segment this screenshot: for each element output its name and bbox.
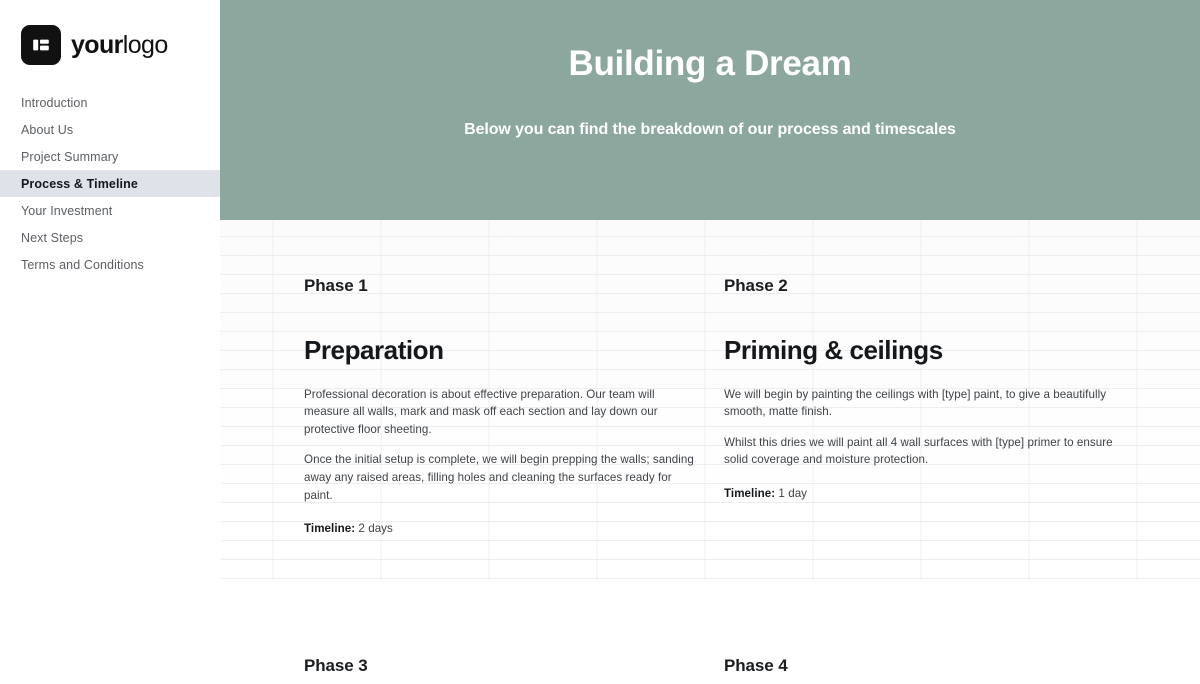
sidebar-item-your-investment[interactable]: Your Investment — [0, 197, 220, 224]
layout-panel-icon — [21, 25, 61, 65]
phase-title: Preparation — [304, 294, 724, 365]
page-subtitle: Below you can find the breakdown of our … — [464, 84, 956, 139]
phase-timeline: Timeline: 2 days — [304, 504, 724, 535]
sidebar-item-about-us[interactable]: About Us — [0, 116, 220, 143]
phase-label: Phase 1 — [304, 277, 724, 294]
sidebar-item-label: Project Summary — [21, 150, 118, 164]
phase-label: Phase 4 — [724, 657, 1144, 674]
phase-label: Phase 2 — [724, 277, 1144, 294]
phase-timeline-label: Timeline: — [724, 487, 775, 500]
brand-wordmark: yourlogo — [71, 33, 168, 58]
phases-grid-row-2: Phase 3 Phase 4 — [220, 535, 1200, 674]
phase-paragraph: Professional decoration is about effecti… — [304, 365, 696, 439]
phase-card-2: Phase 2 Priming & ceilings We will begin… — [724, 277, 1144, 535]
sidebar-item-terms-and-conditions[interactable]: Terms and Conditions — [0, 251, 220, 278]
sidebar-item-label: Your Investment — [21, 204, 112, 218]
phase-paragraph: We will begin by painting the ceilings w… — [724, 365, 1116, 421]
sidebar-item-label: About Us — [21, 123, 73, 137]
sidebar-nav: Introduction About Us Project Summary Pr… — [0, 89, 220, 278]
sidebar-item-project-summary[interactable]: Project Summary — [0, 143, 220, 170]
sidebar-item-next-steps[interactable]: Next Steps — [0, 224, 220, 251]
page-title: Building a Dream — [568, 44, 851, 84]
phases-grid-row-1: Phase 1 Preparation Professional decorat… — [220, 220, 1200, 535]
phase-label: Phase 3 — [304, 657, 724, 674]
sidebar-item-introduction[interactable]: Introduction — [0, 89, 220, 116]
sidebar-item-label: Next Steps — [21, 231, 83, 245]
sidebar-item-label: Terms and Conditions — [21, 258, 144, 272]
phase-title: Priming & ceilings — [724, 294, 1144, 365]
phase-card-1: Phase 1 Preparation Professional decorat… — [304, 277, 724, 535]
phase-timeline-value: 1 day — [778, 487, 807, 500]
phase-timeline-label: Timeline: — [304, 522, 355, 535]
phase-card-4: Phase 4 — [724, 657, 1144, 674]
phase-paragraph: Once the initial setup is complete, we w… — [304, 438, 696, 504]
sidebar-item-label: Introduction — [21, 96, 88, 110]
sidebar: yourlogo Introduction About Us Project S… — [0, 0, 220, 684]
sidebar-item-label: Process & Timeline — [21, 177, 138, 191]
brand-word-strong: your — [71, 31, 123, 59]
phases-section: Phase 1 Preparation Professional decorat… — [220, 220, 1200, 684]
brand-word-light: logo — [123, 31, 168, 59]
brand-logo[interactable]: yourlogo — [0, 0, 220, 68]
main-content: Building a Dream Below you can find the … — [220, 0, 1200, 684]
proposal-page: yourlogo Introduction About Us Project S… — [0, 0, 1200, 684]
sidebar-item-process-timeline[interactable]: Process & Timeline — [0, 170, 220, 197]
phase-timeline: Timeline: 1 day — [724, 469, 1144, 500]
phase-timeline-value: 2 days — [358, 522, 392, 535]
phase-card-3: Phase 3 — [304, 657, 724, 674]
page-hero: Building a Dream Below you can find the … — [220, 0, 1200, 220]
phase-paragraph: Whilst this dries we will paint all 4 wa… — [724, 421, 1116, 469]
